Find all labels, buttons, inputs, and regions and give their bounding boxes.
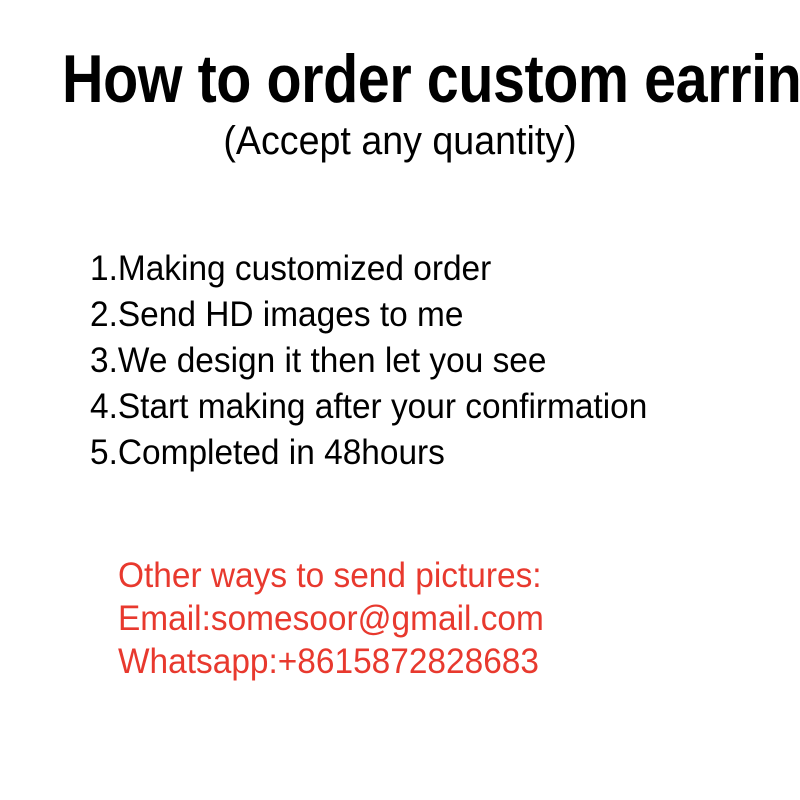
list-item: 3.We design it then let you see [90,338,759,384]
list-item: 5.Completed in 48hours [90,430,759,476]
instruction-poster: How to order custom earrings (Accept any… [0,0,800,800]
page-title: How to order custom earrings [62,44,738,114]
list-item: 1.Making customized order [90,246,759,292]
page-subtitle: (Accept any quantity) [24,118,776,164]
ordering-steps-list: 1.Making customized order 2.Send HD imag… [90,246,790,476]
contact-info-block: Other ways to send pictures: Email:somes… [118,554,778,683]
contact-whatsapp: Whatsapp:+8615872828683 [118,640,748,683]
list-item: 4.Start making after your confirmation [90,384,759,430]
contact-heading: Other ways to send pictures: [118,554,748,597]
title-container: How to order custom earrings [0,44,800,114]
list-item: 2.Send HD images to me [90,292,759,338]
subtitle-container: (Accept any quantity) [0,118,800,164]
contact-email: Email:somesoor@gmail.com [118,597,748,640]
